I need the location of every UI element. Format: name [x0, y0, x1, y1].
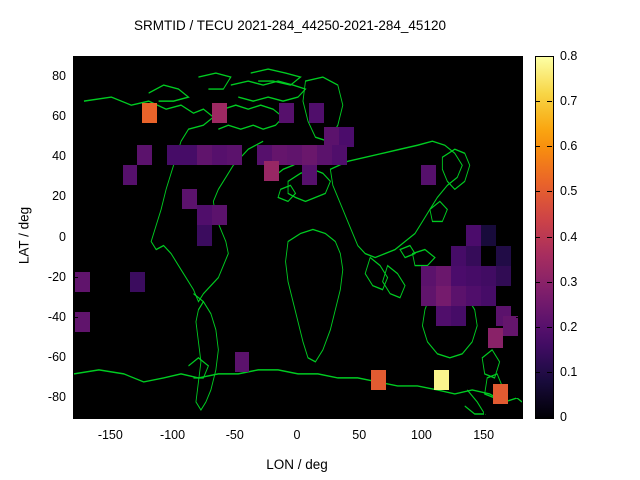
x-axis-title: LON / deg — [73, 457, 521, 472]
heatmap-cell — [212, 145, 227, 165]
colorbar-tick — [547, 237, 552, 238]
heatmap-cell — [137, 145, 152, 165]
heatmap-cell — [167, 145, 182, 165]
heatmap-cell — [75, 272, 90, 292]
y-axis-tick — [73, 237, 78, 238]
y-axis-tick-label: -60 — [20, 351, 66, 364]
x-axis-tick-label: 100 — [391, 429, 451, 442]
heatmap-cell — [488, 328, 503, 348]
x-axis-tick-label: -150 — [80, 429, 140, 442]
y-axis-tick — [516, 277, 521, 278]
y-axis-tick — [516, 156, 521, 157]
heatmap-cell — [227, 145, 242, 165]
heatmap-cell — [182, 145, 197, 165]
heatmap-cell — [503, 316, 518, 336]
colorbar-tick — [535, 56, 540, 57]
y-axis-tick — [73, 317, 78, 318]
x-axis-tick-label: 150 — [454, 429, 514, 442]
colorbar-tick — [535, 372, 540, 373]
x-axis-tick — [297, 412, 298, 417]
y-axis-tick — [73, 277, 78, 278]
heatmap-cell — [182, 189, 197, 209]
colorbar-gradient — [536, 57, 553, 418]
heatmap-cell — [197, 205, 212, 225]
colorbar-tick — [535, 327, 540, 328]
colorbar-tick — [547, 101, 552, 102]
x-axis-tick-label: -100 — [143, 429, 203, 442]
figure-canvas: SRMTID / TECU 2021-284_44250-2021-284_45… — [0, 0, 640, 480]
x-axis-tick-label: -50 — [205, 429, 265, 442]
heatmap-cell — [302, 165, 317, 185]
colorbar-tick-label: 0.2 — [560, 321, 600, 334]
heatmap-cell — [130, 272, 145, 292]
heatmap-cell — [466, 266, 481, 286]
x-axis-tick — [484, 56, 485, 61]
heatmap-cell — [123, 165, 138, 185]
page-title: SRMTID / TECU 2021-284_44250-2021-284_45… — [0, 18, 580, 33]
heatmap-cell — [421, 165, 436, 185]
x-axis-tick-label: 50 — [329, 429, 389, 442]
colorbar-tick — [535, 417, 540, 418]
y-axis-tick — [516, 317, 521, 318]
y-axis-tick-label: 40 — [20, 150, 66, 163]
heatmap-cell — [339, 127, 354, 147]
heatmap-cell — [451, 286, 466, 306]
x-axis-tick — [110, 412, 111, 417]
heatmap-cell — [264, 161, 279, 181]
y-axis-tick — [516, 196, 521, 197]
y-axis-tick — [516, 397, 521, 398]
heatmap-cell — [309, 103, 324, 123]
x-axis-tick — [173, 56, 174, 61]
colorbar-tick-label: 0.4 — [560, 231, 600, 244]
y-axis-tick-label: -40 — [20, 311, 66, 324]
y-axis-tick — [516, 237, 521, 238]
heatmap-cell — [279, 103, 294, 123]
x-axis-tick — [359, 412, 360, 417]
heatmap-cell — [434, 370, 449, 390]
y-axis-tick — [73, 196, 78, 197]
heatmap-cell — [332, 145, 347, 165]
heatmap-cell — [235, 352, 250, 372]
y-axis-tick-label: -80 — [20, 391, 66, 404]
heatmap-cell-layer — [74, 57, 522, 418]
heatmap-cell — [493, 384, 508, 404]
heatmap-cell — [212, 103, 227, 123]
y-axis-tick — [73, 357, 78, 358]
colorbar-tick — [547, 191, 552, 192]
x-axis-tick — [484, 412, 485, 417]
heatmap-cell — [466, 225, 481, 245]
heatmap-cell — [75, 312, 90, 332]
heatmap-cell — [371, 370, 386, 390]
colorbar-tick — [547, 327, 552, 328]
colorbar-tick-label: 0.5 — [560, 185, 600, 198]
colorbar-tick — [547, 417, 552, 418]
heatmap-cell — [324, 127, 339, 147]
x-axis-tick — [421, 412, 422, 417]
x-axis-tick — [297, 56, 298, 61]
heatmap-cell — [466, 246, 481, 266]
colorbar-tick-label: 0.3 — [560, 276, 600, 289]
colorbar-tick-label: 0.8 — [560, 50, 600, 63]
y-axis-tick — [516, 357, 521, 358]
x-axis-tick — [235, 412, 236, 417]
colorbar-tick — [547, 146, 552, 147]
colorbar-tick — [535, 237, 540, 238]
x-axis-tick-label: 0 — [267, 429, 327, 442]
colorbar-tick — [535, 146, 540, 147]
colorbar-tick-label: 0 — [560, 411, 600, 424]
y-axis-title: LAT / deg — [17, 166, 32, 306]
heatmap-cell — [436, 266, 451, 286]
heatmap-cell — [197, 225, 212, 245]
y-axis-tick — [516, 76, 521, 77]
colorbar-tick — [547, 372, 552, 373]
x-axis-tick — [421, 56, 422, 61]
heatmap-cell — [481, 286, 496, 306]
x-axis-tick — [235, 56, 236, 61]
heatmap-cell — [451, 306, 466, 326]
heatmap-cell — [421, 266, 436, 286]
colorbar-tick — [535, 191, 540, 192]
heatmap-cell — [436, 286, 451, 306]
map-plot-area[interactable] — [73, 56, 523, 419]
x-axis-tick — [173, 412, 174, 417]
colorbar-tick — [547, 56, 552, 57]
y-axis-tick — [73, 156, 78, 157]
colorbar-tick — [547, 282, 552, 283]
colorbar-tick-label: 0.1 — [560, 366, 600, 379]
y-axis-tick — [73, 76, 78, 77]
x-axis-tick — [359, 56, 360, 61]
colorbar-tick — [535, 101, 540, 102]
heatmap-cell — [302, 145, 317, 165]
colorbar-tick-label: 0.6 — [560, 140, 600, 153]
heatmap-cell — [421, 286, 436, 306]
heatmap-cell — [287, 145, 302, 165]
heatmap-cell — [481, 225, 496, 245]
heatmap-cell — [212, 205, 227, 225]
y-axis-tick-label: 60 — [20, 110, 66, 123]
heatmap-cell — [451, 266, 466, 286]
heatmap-cell — [451, 246, 466, 266]
colorbar-tick — [535, 282, 540, 283]
heatmap-cell — [317, 145, 332, 165]
heatmap-cell — [466, 286, 481, 306]
heatmap-cell — [436, 306, 451, 326]
heatmap-cell — [496, 246, 511, 266]
colorbar — [535, 56, 554, 419]
x-axis-tick — [110, 56, 111, 61]
y-axis-tick — [516, 116, 521, 117]
heatmap-cell — [496, 266, 511, 286]
colorbar-tick-label: 0.7 — [560, 95, 600, 108]
y-axis-tick — [73, 116, 78, 117]
y-axis-tick — [73, 397, 78, 398]
heatmap-cell — [481, 266, 496, 286]
y-axis-tick-label: 80 — [20, 70, 66, 83]
heatmap-cell — [197, 145, 212, 165]
heatmap-cell — [142, 103, 157, 123]
